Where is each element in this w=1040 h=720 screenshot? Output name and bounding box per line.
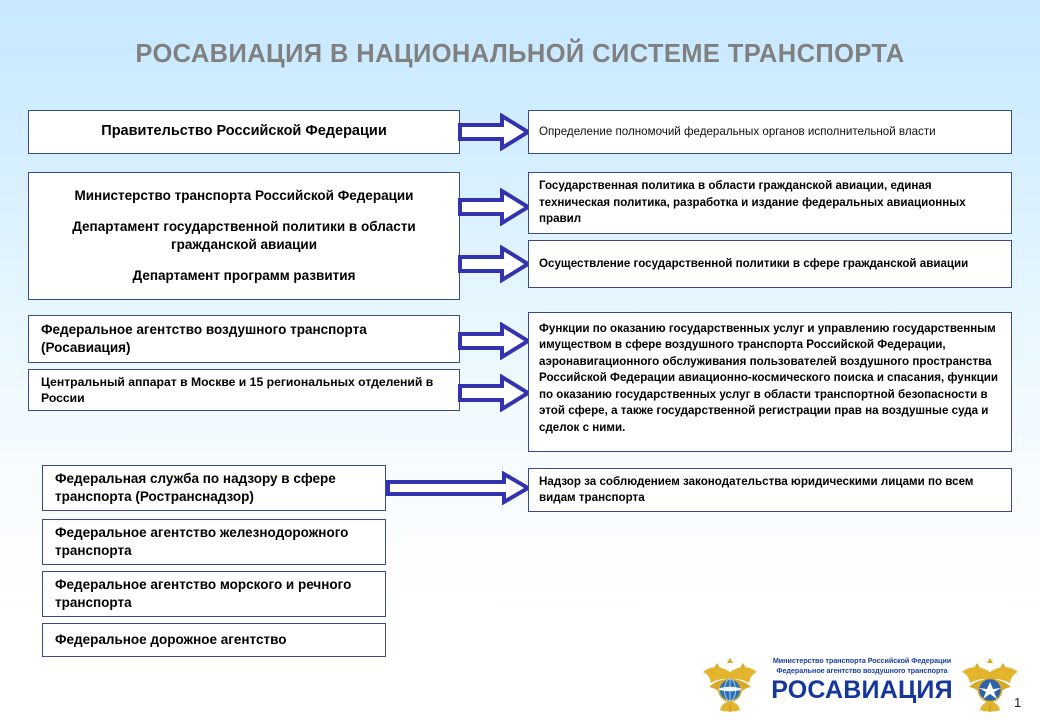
org-box-ministry-dept-programs: Департамент программ развития [39,267,449,285]
arrow-ministry-to-policy-implementation [458,245,530,283]
org-box-rail-agency: Федеральное агентство железнодорожного т… [42,519,386,565]
org-box-road-agency-label: Федеральное дорожное агентство [55,631,377,649]
desc-box-authority-definition: Определение полномочий федеральных орган… [528,110,1012,154]
org-box-rail-agency-label: Федеральное агентство железнодорожного т… [55,524,377,560]
logo-text-block: Министерство транспорта Российской Федер… [766,656,958,703]
org-box-rosaviatsia: Федеральное агентство воздушного транспо… [28,315,460,363]
org-box-central-apparatus: Центральный аппарат в Москве и 15 регион… [28,369,460,411]
rosaviatsia-eagle-emblem [958,654,1022,716]
arrow-rosaviatsia-to-functions [458,322,530,360]
org-box-ministry-dept-policy: Департамент государственной политики в о… [39,218,449,254]
desc-box-rosaviatsia-functions-text: Функции по оказанию государственных услу… [539,321,1003,436]
org-box-rostransnadzor-label: Федеральная служба по надзору в сфере тр… [55,470,377,506]
org-box-ministry-title: Министерство транспорта Российской Федер… [39,187,449,205]
logo-caption-agency: Федеральное агентство воздушного транспо… [766,666,958,676]
org-box-marine-agency-label: Федеральное агентство морского и речного… [55,576,377,612]
footer-logo-bar: Министерство транспорта Российской Федер… [690,652,1020,718]
org-box-rostransnadzor: Федеральная служба по надзору в сфере тр… [42,465,386,511]
page-number: 1 [1014,695,1021,710]
logo-wordmark: РОСАВИАЦИЯ [766,678,958,703]
desc-box-rosaviatsia-functions: Функции по оказанию государственных услу… [528,312,1012,452]
desc-box-policy-implementation-text: Осуществление государственной политики в… [539,256,1003,272]
desc-box-supervision-text: Надзор за соблюдением законодательства ю… [539,474,1003,507]
russian-double-headed-eagle-emblem [698,654,762,716]
desc-box-authority-definition-text: Определение полномочий федеральных орган… [539,124,1003,140]
arrow-rostransnadzor-to-supervision [386,471,530,505]
org-box-central-apparatus-label: Центральный аппарат в Москве и 15 регион… [41,374,451,406]
arrow-ministry-to-state-policy [458,188,530,226]
org-box-marine-agency: Федеральное агентство морского и речного… [42,571,386,617]
org-box-government: Правительство Российской Федерации [28,110,460,154]
org-box-rosaviatsia-label: Федеральное агентство воздушного транспо… [41,321,451,357]
slide-canvas: РОСАВИАЦИЯ В НАЦИОНАЛЬНОЙ СИСТЕМЕ ТРАНСП… [0,0,1040,720]
desc-box-supervision: Надзор за соблюдением законодательства ю… [528,468,1012,512]
org-box-government-label: Правительство Российской Федерации [29,122,459,141]
desc-box-state-policy-text: Государственная политика в области гражд… [539,178,1003,227]
arrow-central-apparatus-to-functions [458,374,530,412]
org-box-ministry: Министерство транспорта Российской Федер… [28,172,460,300]
logo-caption-ministry: Министерство транспорта Российской Федер… [766,656,958,666]
org-box-road-agency: Федеральное дорожное агентство [42,623,386,657]
arrow-government-to-authority [458,113,530,151]
desc-box-policy-implementation: Осуществление государственной политики в… [528,240,1012,288]
desc-box-state-policy: Государственная политика в области гражд… [528,172,1012,234]
page-title: РОСАВИАЦИЯ В НАЦИОНАЛЬНОЙ СИСТЕМЕ ТРАНСП… [60,40,980,69]
